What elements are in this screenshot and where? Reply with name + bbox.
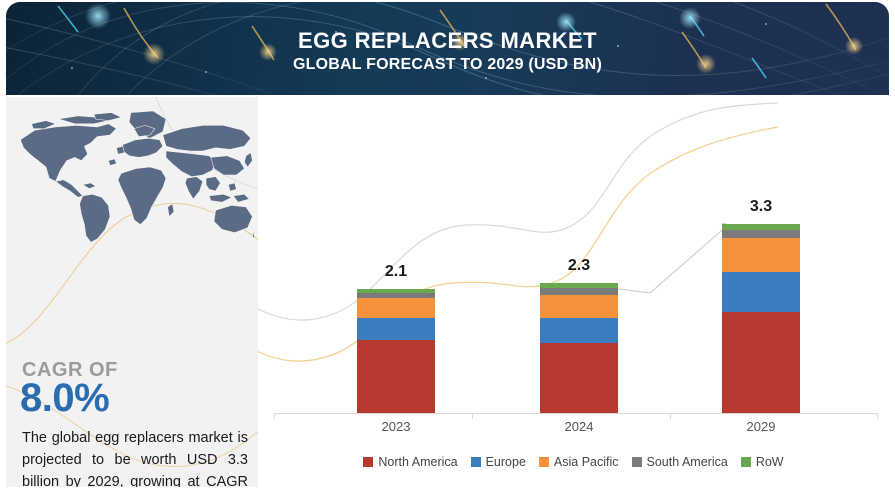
legend-swatch-south-america: [632, 457, 642, 467]
x-axis-line: [274, 413, 878, 414]
segment-north-america-2023: [357, 340, 435, 413]
axis-tick: [877, 413, 878, 419]
market-description: The global egg replacers market is proje…: [22, 427, 248, 487]
legend-item-row[interactable]: RoW: [741, 455, 784, 469]
axis-label-2029: 2029: [706, 419, 816, 434]
bar-value-label-2029: 3.3: [722, 198, 800, 216]
bar-value-label-2023: 2.1: [357, 263, 435, 281]
legend-item-asia-pacific[interactable]: Asia Pacific: [539, 455, 619, 469]
segment-south-america-2029: [722, 230, 800, 238]
bar-2029[interactable]: [722, 224, 800, 413]
axis-tick: [472, 413, 473, 419]
infographic-card: EGG REPLACERS MARKET GLOBAL FORECAST TO …: [0, 0, 895, 492]
header-subtitle: GLOBAL FORECAST TO 2029 (USD BN): [6, 56, 889, 74]
cagr-value: 8.0%: [20, 376, 109, 421]
cagr-connector-line: [650, 223, 730, 293]
world-map-icon: [14, 111, 254, 243]
bar-2024[interactable]: [540, 283, 618, 413]
segment-europe-2023: [357, 318, 435, 340]
legend-label-north-america: North America: [378, 455, 457, 469]
axis-tick: [670, 413, 671, 419]
legend-swatch-asia-pacific: [539, 457, 549, 467]
legend-item-south-america[interactable]: South America: [632, 455, 728, 469]
segment-europe-2029: [722, 272, 800, 312]
bar-value-label-2024: 2.3: [540, 257, 618, 275]
segment-north-america-2024: [540, 343, 618, 413]
segment-asia-pacific-2029: [722, 238, 800, 272]
legend-swatch-north-america: [363, 457, 373, 467]
segment-europe-2024: [540, 318, 618, 343]
segment-south-america-2024: [540, 288, 618, 295]
legend-label-south-america: South America: [647, 455, 728, 469]
header-title: EGG REPLACERS MARKET: [6, 28, 889, 54]
segment-asia-pacific-2024: [540, 295, 618, 318]
axis-label-2023: 2023: [341, 419, 451, 434]
legend-label-asia-pacific: Asia Pacific: [554, 455, 619, 469]
header-banner: EGG REPLACERS MARKET GLOBAL FORECAST TO …: [6, 2, 889, 95]
legend-label-europe: Europe: [486, 455, 526, 469]
segment-north-america-2029: [722, 312, 800, 413]
axis-label-2024: 2024: [524, 419, 634, 434]
legend-item-north-america[interactable]: North America: [363, 455, 457, 469]
stacked-bar-chart: 2.1 2023 2.3 2024 3.3 2029: [258, 97, 889, 487]
legend-swatch-europe: [471, 457, 481, 467]
sidebar-panel: CAGR OF 8.0% The global egg replacers ma…: [6, 97, 259, 487]
legend-label-row: RoW: [756, 455, 784, 469]
legend-swatch-row: [741, 457, 751, 467]
segment-asia-pacific-2023: [357, 298, 435, 318]
axis-tick: [274, 413, 275, 419]
legend-item-europe[interactable]: Europe: [471, 455, 526, 469]
chart-legend: North America Europe Asia Pacific South …: [258, 455, 889, 469]
bar-2023[interactable]: [357, 289, 435, 413]
